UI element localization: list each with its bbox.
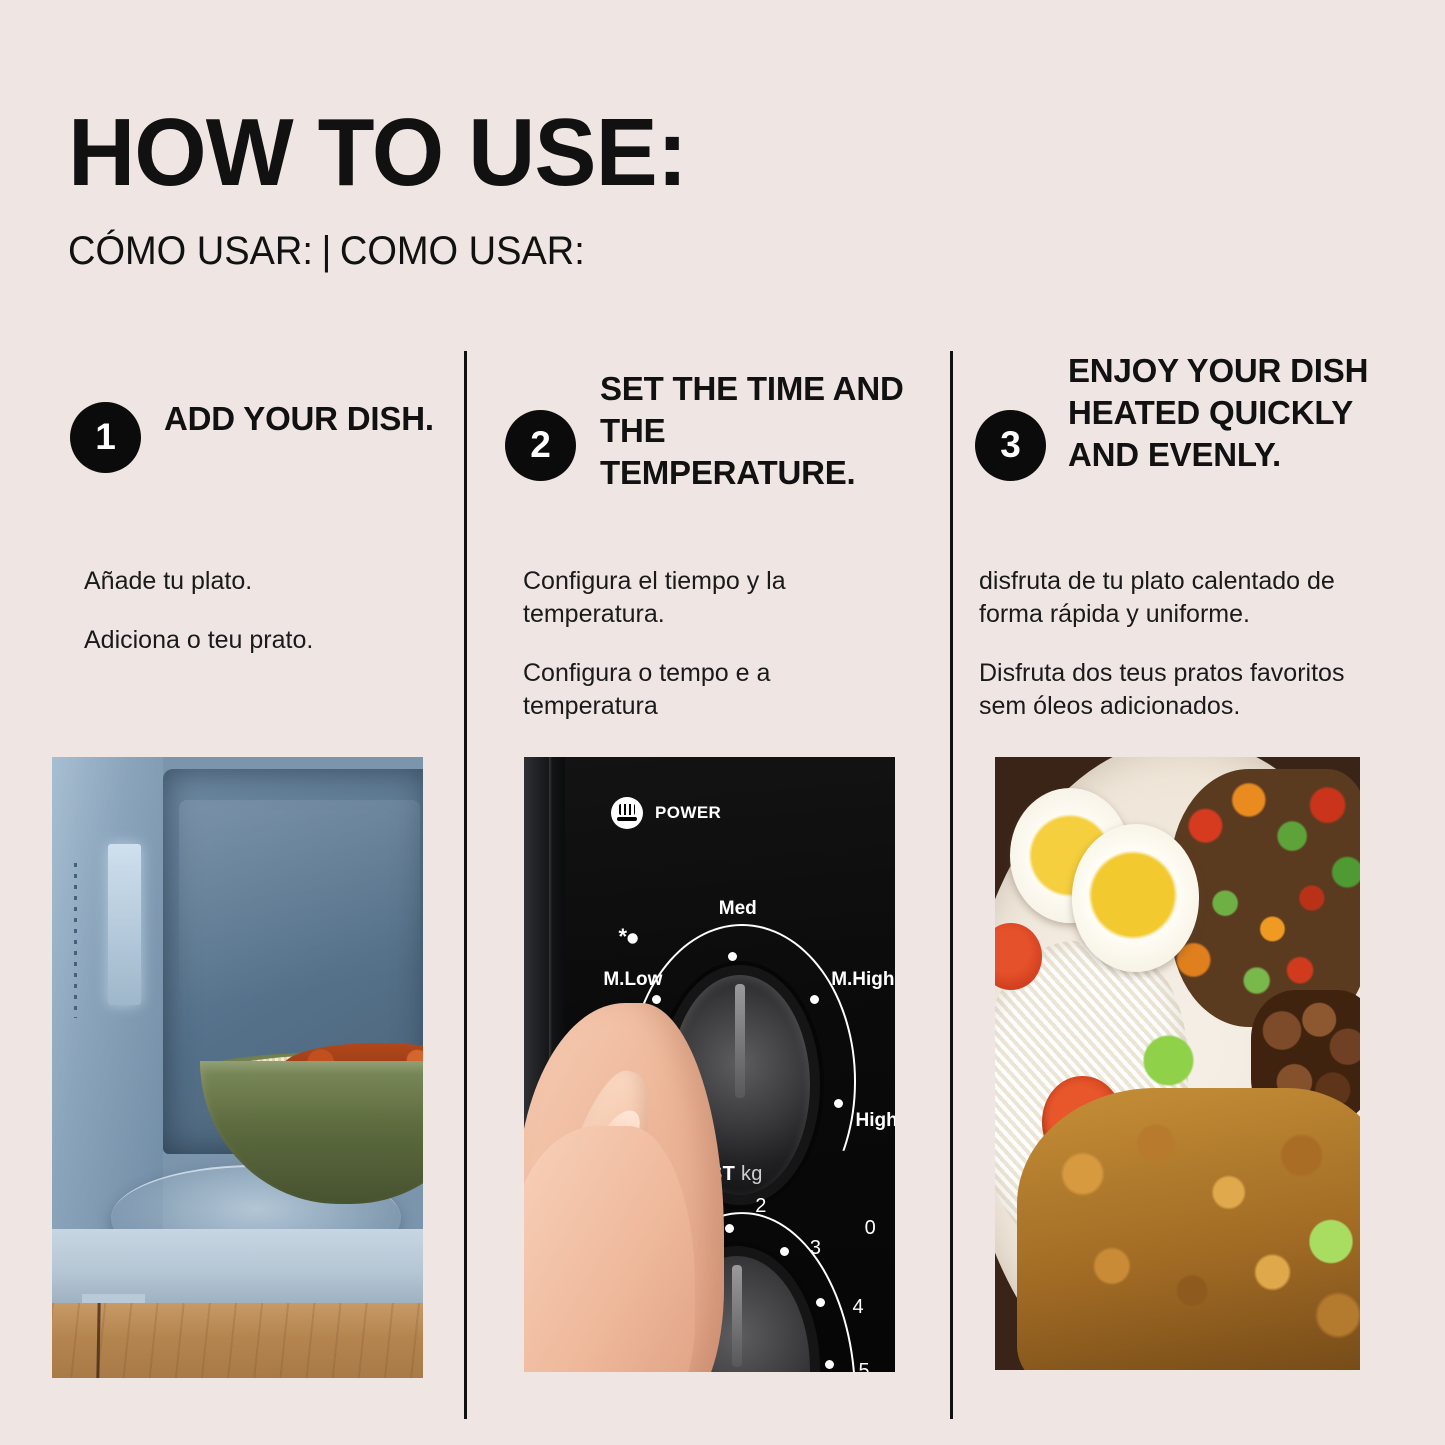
- header: HOW TO USE: CÓMO USAR:|COMO USAR:: [68, 105, 1368, 271]
- plated-food-illustration: [995, 757, 1360, 1370]
- microwave-control-panel-illustration: POWER Low M.Low Med M.High High *⦁: [524, 757, 895, 1372]
- step-2-photo: POWER Low M.Low Med M.High High *⦁: [524, 757, 895, 1372]
- step-column-1: 1 ADD YOUR DISH. Añade tu plato. Adicion…: [70, 350, 440, 440]
- page-title: HOW TO USE:: [68, 105, 1329, 201]
- microwave-base: [52, 1229, 423, 1304]
- defrost-unit: kg: [741, 1163, 763, 1185]
- wooden-table-surface: [52, 1303, 423, 1378]
- step-2-text-spanish: Configura el tiempo y la temperatura.: [523, 565, 873, 631]
- power-label-med: Med: [719, 898, 757, 920]
- step-2-number-badge: 2: [505, 410, 576, 481]
- step-1-text-portuguese: Adiciona o teu prato.: [84, 624, 434, 657]
- step-2-text-portuguese: Configura o tempo e a temperatura: [523, 657, 873, 723]
- defrost-droplet-icon: *⦁: [619, 924, 639, 950]
- defrost-number-2: 2: [755, 1195, 766, 1218]
- subtitle-spanish: CÓMO USAR:: [68, 229, 313, 273]
- defrost-number-4: 4: [852, 1296, 863, 1319]
- parsley-leaf-2: [1309, 1211, 1353, 1272]
- power-label-mlow: M.Low: [603, 969, 662, 991]
- step-2-body: Configura el tiempo y la temperatura. Co…: [523, 565, 873, 723]
- step-1-photo: [52, 757, 423, 1378]
- heat-steam-icon: [611, 797, 643, 829]
- power-tick-mhigh: [810, 995, 819, 1004]
- power-tick-mlow: [652, 995, 661, 1004]
- steam-lines: [619, 804, 634, 815]
- step-2-title: SET THE TIME AND THE TEMPERATURE.: [505, 350, 925, 494]
- power-label: POWER: [655, 803, 721, 823]
- step-3-text-portuguese: Disfruta dos teus pratos favoritos sem ó…: [979, 657, 1389, 723]
- power-row: POWER: [611, 797, 721, 829]
- parsley-leaf-1: [1141, 1027, 1196, 1094]
- column-divider-1: [464, 351, 467, 1419]
- step-3-body: disfruta de tu plato calentado de forma …: [979, 565, 1389, 723]
- power-label-mhigh: M.High: [831, 969, 894, 991]
- defrost-number-5: 5: [859, 1360, 870, 1372]
- microwave-vent: [108, 844, 141, 1005]
- defrost-tick-5: [825, 1360, 834, 1369]
- microwave-interior-illustration: [52, 757, 423, 1378]
- step-1-body: Añade tu plato. Adiciona o teu prato.: [84, 565, 434, 657]
- step-2-head: 2 SET THE TIME AND THE TEMPERATURE.: [505, 350, 925, 494]
- step-1-number-badge: 1: [70, 402, 141, 473]
- defrost-number-0: 0: [865, 1217, 876, 1240]
- step-column-3: 3 ENJOY YOUR DISH HEATED QUICKLY AND EVE…: [975, 350, 1375, 476]
- column-divider-2: [950, 351, 953, 1419]
- subtitle-separator: |: [313, 231, 340, 271]
- power-label-high: High: [855, 1110, 895, 1132]
- power-tick-med: [728, 952, 737, 961]
- step-3-text-spanish: disfruta de tu plato calentado de forma …: [979, 565, 1389, 631]
- defrost-number-3: 3: [810, 1237, 821, 1260]
- step-1-text-spanish: Añade tu plato.: [84, 565, 434, 598]
- step-1-head: 1 ADD YOUR DISH.: [70, 350, 440, 440]
- microwave-seal-dots: [74, 863, 77, 1018]
- hand-lower-fingers: [524, 1126, 695, 1372]
- subtitle-portuguese: COMO USAR:: [340, 229, 585, 273]
- step-3-head: 3 ENJOY YOUR DISH HEATED QUICKLY AND EVE…: [975, 350, 1375, 476]
- boiled-egg-half-2: [1072, 824, 1200, 971]
- step-3-photo: [995, 757, 1360, 1370]
- defrost-tick-3: [780, 1247, 789, 1256]
- step-3-number-badge: 3: [975, 410, 1046, 481]
- step-column-2: 2 SET THE TIME AND THE TEMPERATURE. Conf…: [505, 350, 925, 494]
- page-subtitle: CÓMO USAR:|COMO USAR:: [68, 201, 1303, 271]
- poster-root: HOW TO USE: CÓMO USAR:|COMO USAR: 1 ADD …: [0, 0, 1445, 1445]
